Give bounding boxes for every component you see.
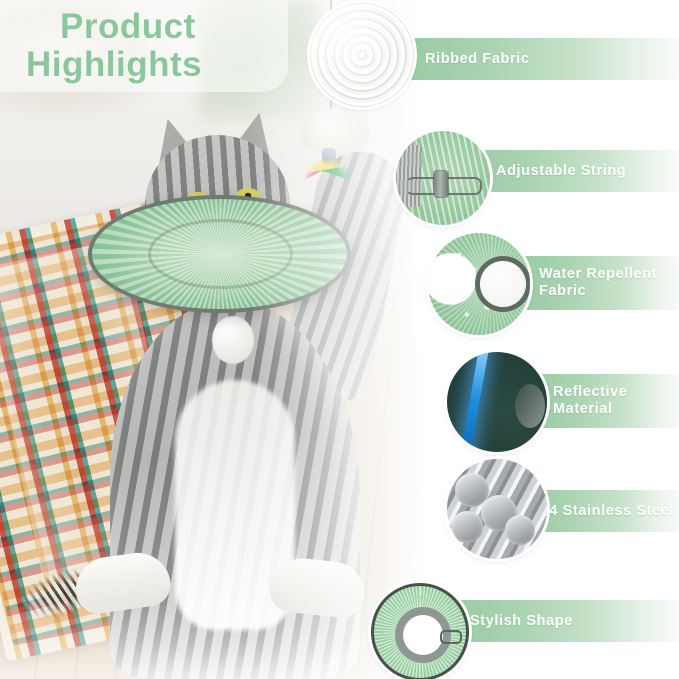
page-title-line2: Highlights <box>26 46 288 84</box>
page-title: Product Highlights <box>26 8 288 84</box>
steel-rods-icon <box>447 459 547 559</box>
photo-bottom-fade <box>0 600 420 679</box>
feature-label-bar-water-repellent: Water Repellent Fabric <box>520 256 679 310</box>
cone-inner-opening <box>480 261 526 307</box>
feature-label-bar-ribbed-fabric: Ribbed Fabric <box>405 38 679 80</box>
feature-label-reflective-material: Reflective Material <box>553 384 628 418</box>
feature-label-ribbed-fabric: Ribbed Fabric <box>425 51 529 68</box>
water-droplet-beading-icon <box>428 233 530 335</box>
ribbed-edge-detail <box>396 145 422 207</box>
page-title-line1: Product <box>26 8 288 46</box>
product-highlights-infographic: Product Highlights Ribbed Fabric Adjusta… <box>0 0 679 679</box>
feature-label-adjustable-string: Adjustable String <box>496 163 626 180</box>
cat-white-chest-spot <box>212 316 254 364</box>
feature-label-stylish-shape: Stylish Shape <box>470 613 573 630</box>
reflective-light-streak <box>458 352 490 452</box>
cord-lock-toggle-icon <box>396 131 490 225</box>
feature-label-bar-stylish-shape: Stylish Shape <box>450 600 679 642</box>
steel-rod <box>505 515 535 545</box>
collar-center-opening <box>403 615 443 655</box>
reflective-strip-icon <box>447 352 547 452</box>
feature-label-stainless-steel: 304 Stainless Steel <box>532 503 674 520</box>
feature-label-bar-adjustable-string: Adjustable String <box>465 150 679 192</box>
collar-top-view-icon <box>371 583 469 679</box>
photo-right-fade <box>250 0 420 679</box>
cone-edge-binding <box>515 384 545 428</box>
steel-rod <box>451 511 483 543</box>
feature-label-water-repellent-fabric: Water Repellent Fabric <box>539 266 657 300</box>
cord-lock-barrel <box>434 171 448 197</box>
ribbed-fabric-swatch-icon <box>310 3 414 107</box>
collar-clip <box>440 630 462 644</box>
feature-label-bar-reflective-material: Reflective Material <box>530 374 679 428</box>
